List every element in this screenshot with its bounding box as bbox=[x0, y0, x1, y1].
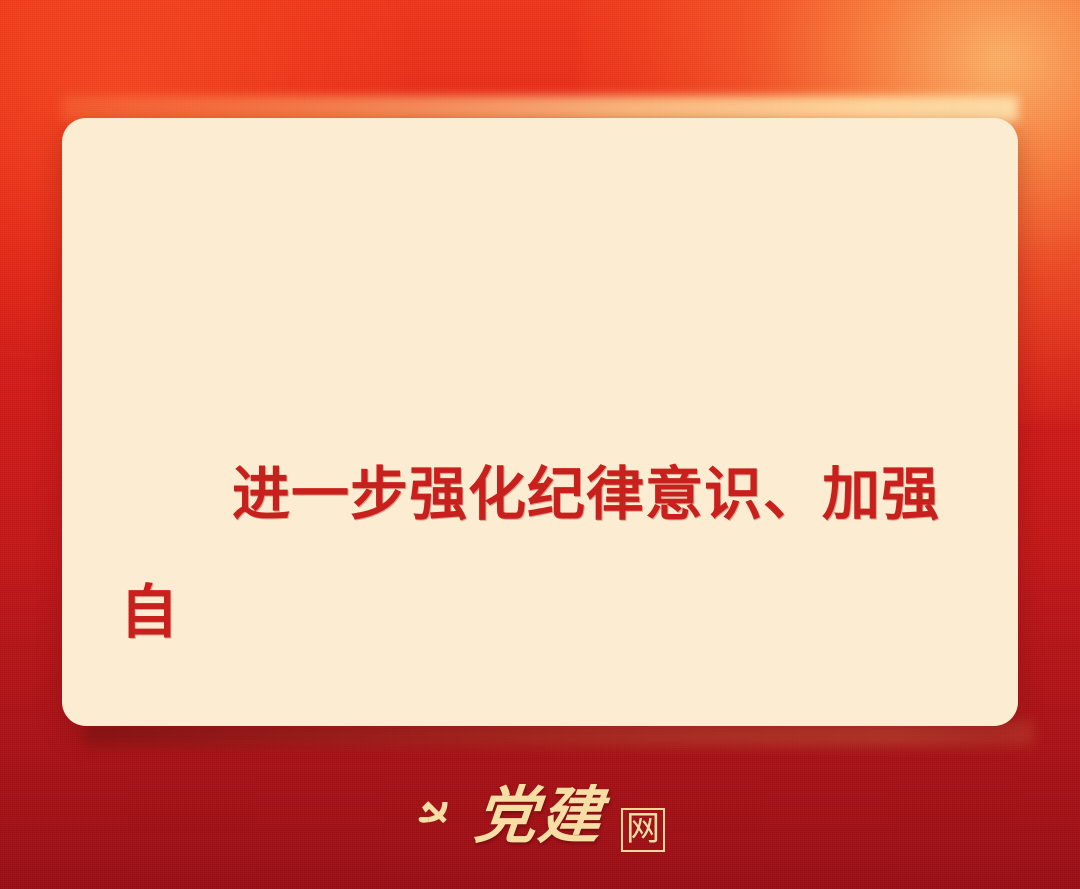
quote-card: 进一步强化纪律意识、加强自 我约束、提高免疫能力，增强政治 定力、纪律定力、道德… bbox=[62, 118, 1018, 726]
brand-word: 党建 bbox=[472, 786, 607, 848]
poster-root: 进一步强化纪律意识、加强自 我约束、提高免疫能力，增强政治 定力、纪律定力、道德… bbox=[0, 0, 1080, 889]
footer-logo: 党建 网 bbox=[0, 772, 1080, 862]
quote-line-1: 进一步强化纪律意识、加强自 bbox=[120, 436, 966, 672]
brand-suffix: 网 bbox=[621, 808, 665, 852]
cpc-hammer-sickle-icon bbox=[415, 795, 459, 839]
